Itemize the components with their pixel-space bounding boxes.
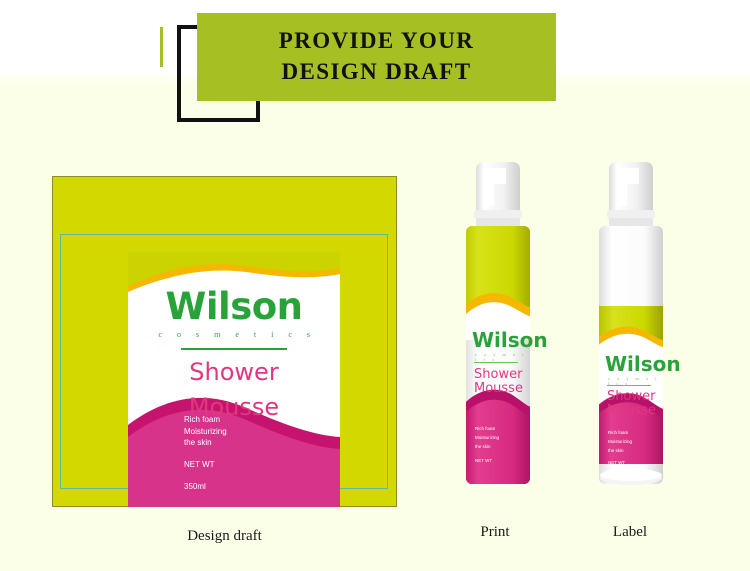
- title-banner: PROVIDE YOUR DESIGN DRAFT: [197, 13, 556, 101]
- bottle-label-description-line-3: the skin: [608, 448, 624, 453]
- bottle-print-description-line-2: Moisturizing: [475, 435, 499, 440]
- caption-label: Label: [575, 524, 685, 541]
- net-weight-label: NET WT: [184, 460, 227, 471]
- label-artwork-content: Wilson c o s m e t i c s Shower Mousse: [128, 252, 340, 507]
- bottle-print-product-line-2: Mousse: [474, 382, 523, 396]
- bottle-print-net-weight: NET WT: [475, 458, 492, 463]
- bottle-label-product-line-2: Mousse: [607, 404, 656, 418]
- bottle-print-text-overlay: Wilson c o s m e t i c s Shower Mousse R…: [462, 158, 534, 488]
- net-weight-value: 350ml: [184, 482, 227, 493]
- page-title-line-2: DESIGN DRAFT: [282, 57, 472, 88]
- brand-name: Wilson: [166, 288, 303, 325]
- product-name-line-1: Shower: [189, 360, 278, 386]
- bottle-print: Wilson c o s m e t i c s Shower Mousse R…: [462, 158, 534, 488]
- caption-design-draft: Design draft: [52, 528, 397, 545]
- bottle-label-divider-rule: [607, 385, 651, 386]
- description-line-1: Rich foam: [184, 414, 227, 426]
- description-line-2: Moisturizing: [184, 426, 227, 438]
- bottle-print-brand: Wilson: [472, 330, 548, 350]
- caption-print: Print: [440, 524, 550, 541]
- bottle-label-text-overlay: Wilson c o s m e t i c s Shower Mousse R…: [595, 158, 667, 488]
- brand-tagline: c o s m e t i c s: [151, 330, 316, 339]
- bottle-print-description-line-1: Rich foam: [475, 426, 495, 431]
- bottle-label-description-line-1: Rich foam: [608, 430, 628, 435]
- label-artwork-draft: Wilson c o s m e t i c s Shower Mousse R…: [128, 252, 340, 507]
- accent-tick-mark: [160, 27, 163, 67]
- bottle-label-description-line-2: Moisturizing: [608, 439, 632, 444]
- description-line-3: the skin: [184, 437, 227, 449]
- page-root: PROVIDE YOUR DESIGN DRAFT Wilson c o s m…: [0, 0, 750, 571]
- label-description-block: Rich foam Moisturizing the skin NET WT 3…: [184, 414, 227, 492]
- bottle-print-divider-rule: [474, 362, 518, 363]
- bottle-label: Wilson c o s m e t i c s Shower Mousse R…: [595, 158, 667, 488]
- brand-divider-rule: [181, 348, 287, 350]
- bottle-print-tagline: c o s m e t i c s: [475, 352, 534, 362]
- page-title-line-1: PROVIDE YOUR: [279, 26, 474, 57]
- bottle-label-net-weight: NET WT: [608, 460, 625, 465]
- bottle-print-description-line-3: the skin: [475, 444, 491, 449]
- bottle-label-brand: Wilson: [605, 354, 681, 374]
